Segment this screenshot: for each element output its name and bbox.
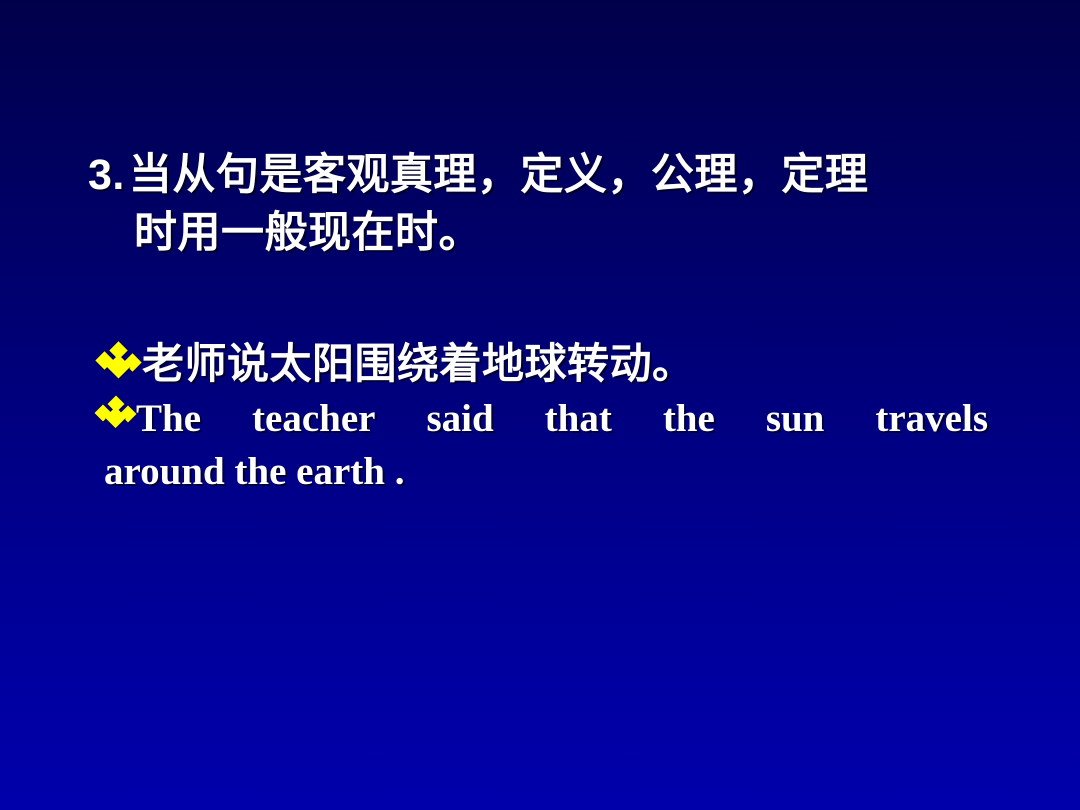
example-english-line-1: The teacher said that the sun travels [136,392,988,445]
english-word: sun [766,392,825,445]
example-english-row: The teacher said that the sun travels [96,392,996,445]
english-word: travels [875,392,988,445]
example-answer-block: 老师说太阳围绕着地球转动。 The teacher said that the … [96,336,996,498]
diamond-bullet-icon [96,398,136,438]
example-english-text: The teacher said that the sun travels [136,392,988,445]
diamond-bullet-icon [96,344,142,390]
rule-line-1-text: 当从句是客观真理，定义，公理，定理 [129,151,869,199]
english-word: The [136,392,201,445]
numbered-rule-item: 3.当从句是客观真理，定义，公理，定理 时用一般现在时。 [88,146,1008,262]
rule-line-1: 3.当从句是客观真理，定义，公理，定理 [88,146,1008,204]
example-chinese-row: 老师说太阳围绕着地球转动。 [96,336,996,392]
english-word: that [545,392,612,445]
example-chinese-text: 老师说太阳围绕着地球转动。 [142,336,695,392]
example-english-line-2: around the earth . [104,445,996,498]
english-word: the [663,392,715,445]
slide-canvas: 3.当从句是客观真理，定义，公理，定理 时用一般现在时。 老师说太阳围绕着地球转… [0,0,1080,810]
rule-number: 3. [88,146,129,204]
rule-line-2: 时用一般现在时。 [88,204,1008,262]
english-word: said [426,392,493,445]
english-word: teacher [252,392,375,445]
